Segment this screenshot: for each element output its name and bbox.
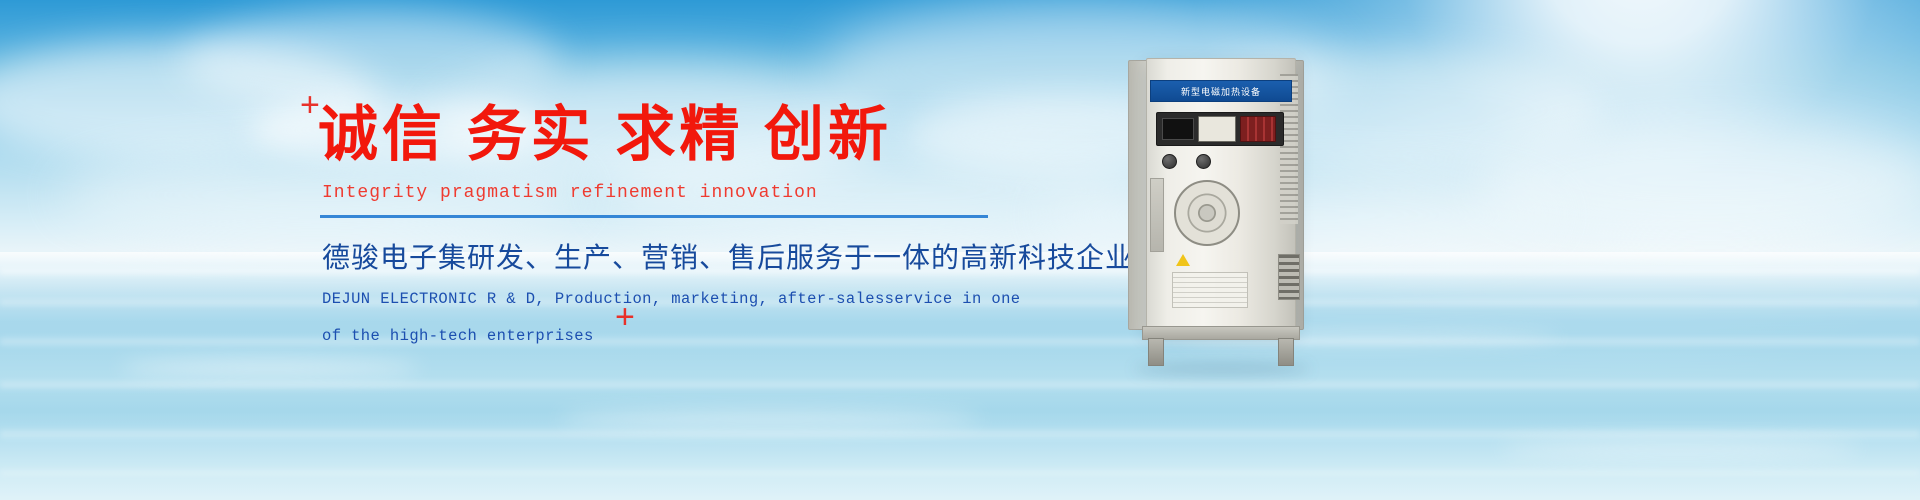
machine-leg	[1278, 338, 1294, 366]
wave-line	[0, 382, 1920, 388]
water-glint	[1500, 440, 1860, 458]
machine-fan-icon	[1174, 180, 1240, 246]
water-glint	[120, 360, 420, 376]
product-machine: 新型电磁加热设备	[1128, 58, 1308, 358]
machine-keypad	[1240, 116, 1276, 142]
machine-label: 新型电磁加热设备	[1150, 80, 1292, 102]
headline-chinese: 诚信 务实 求精 创新	[318, 100, 1038, 169]
machine-control-panel	[1156, 112, 1284, 146]
machine-knob	[1162, 154, 1177, 169]
wave-line	[0, 470, 1920, 476]
cloud-shape	[1480, 120, 1920, 240]
machine-knob	[1196, 154, 1211, 169]
banner-copy: 诚信 务实 求精 创新 Integrity pragmatism refinem…	[318, 100, 1038, 350]
machine-base	[1142, 326, 1300, 340]
divider-rule	[320, 215, 988, 218]
cross-decor-icon: +	[300, 88, 320, 122]
machine-grille	[1278, 254, 1300, 300]
headline-english: Integrity pragmatism refinement innovati…	[322, 183, 1038, 203]
machine-leg	[1148, 338, 1164, 366]
cloud-shape	[180, 10, 560, 110]
subtitle-chinese: 德骏电子集研发、生产、营销、售后服务于一体的高新科技企业	[322, 236, 1038, 276]
machine-knob-row	[1162, 154, 1262, 168]
water-glint	[560, 410, 980, 428]
machine-side-strip	[1150, 178, 1164, 252]
machine-analog-meter	[1198, 116, 1236, 142]
machine-spec-plate	[1172, 272, 1248, 308]
promo-banner: + + 诚信 务实 求精 创新 Integrity pragmatism ref…	[0, 0, 1920, 500]
subtitle-english-line-2: of the high-tech enterprises	[322, 323, 1038, 350]
wave-line	[0, 430, 1920, 438]
machine-display	[1162, 118, 1194, 140]
subtitle-english-line-1: DEJUN ELECTRONIC R & D, Production, mark…	[322, 286, 1038, 313]
